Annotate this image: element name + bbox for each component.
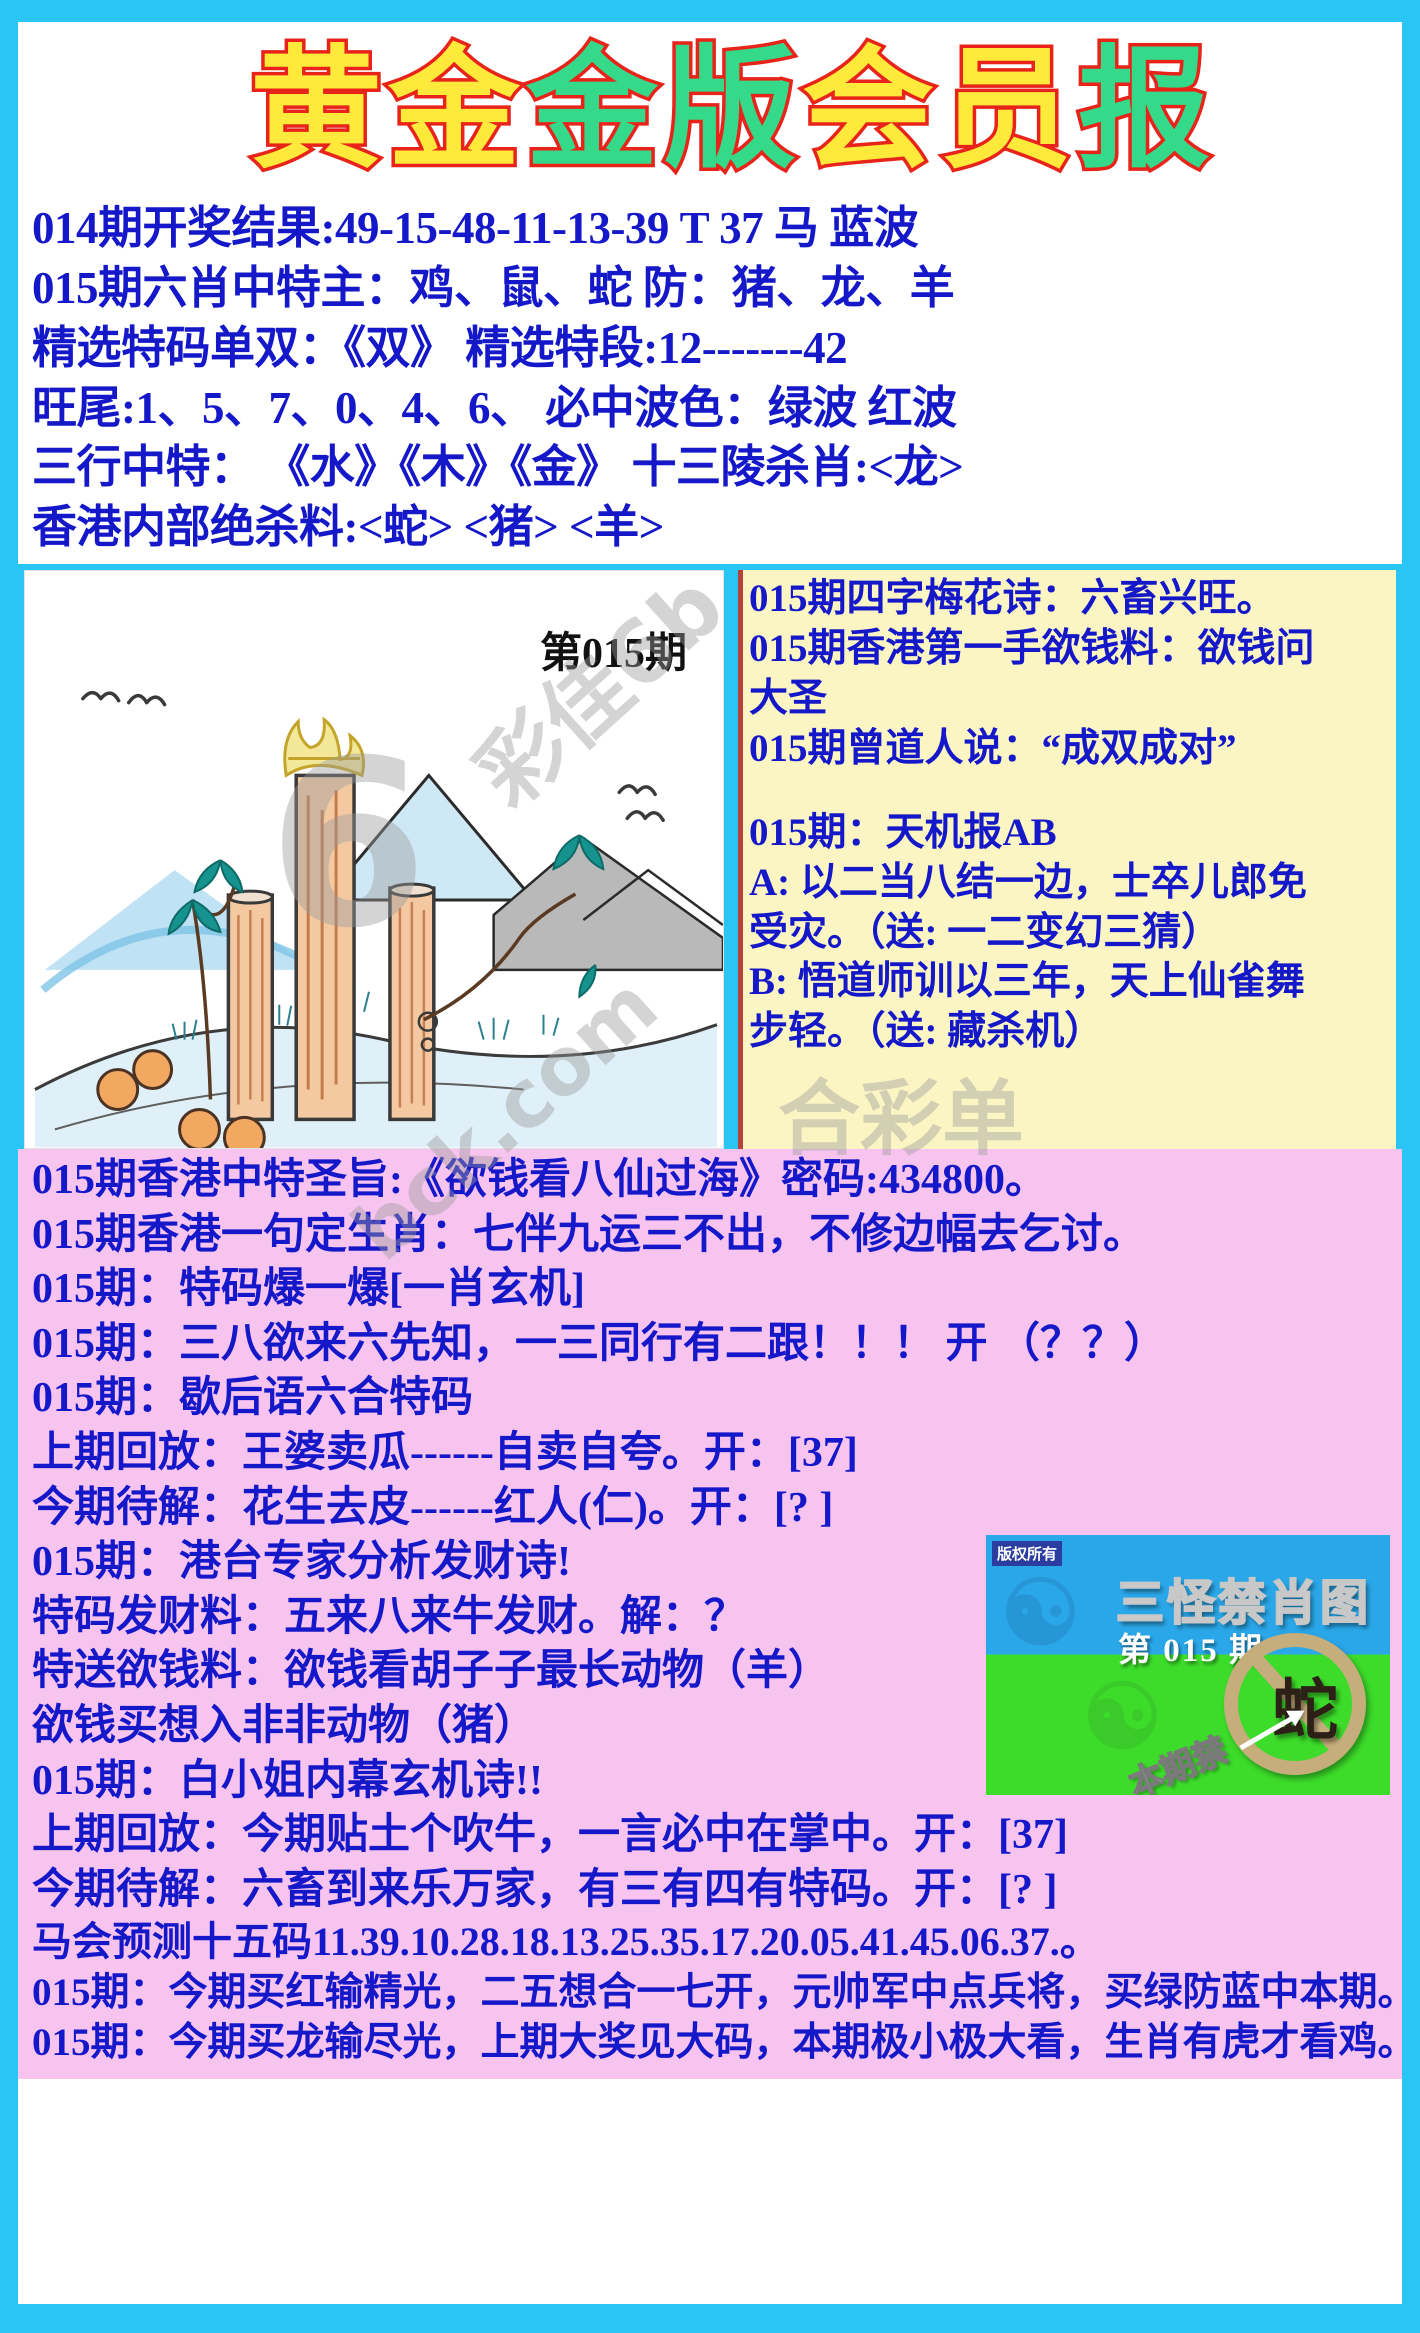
- pink-line-13: 上期回放：今期贴土个吹牛，一言必中在掌中。开：[37]: [32, 1808, 1392, 1863]
- headline-line-2: 015期六肖中特主：鸡、鼠、蛇 防：猪、龙、羊: [32, 259, 1392, 319]
- illustration-issue-label: 第015期: [540, 619, 687, 680]
- headline-line-6: 香港内部绝杀料:<蛇> <猪> <羊>: [32, 498, 1392, 558]
- masthead-char-2: 金: [388, 33, 526, 187]
- yellow-spacer: [749, 774, 1392, 808]
- masthead-char-7: 报: [1078, 33, 1216, 187]
- yellow-line-5: 015期：天机报AB: [749, 808, 1392, 858]
- yellow-line-1: 015期四字梅花诗：六畜兴旺。: [749, 574, 1392, 624]
- pink-line-14: 今期待解：六畜到来乐万家，有三有四有特码。开：[? ]: [32, 1863, 1392, 1918]
- pink-line-12: 015期：白小姐内幕玄机诗!!: [32, 1754, 1392, 1809]
- pink-line-11: 欲钱买想入非非动物（猪）: [32, 1699, 1392, 1754]
- masthead-char-3: 金: [526, 33, 664, 187]
- pink-line-8: 015期：港台专家分析发财诗!: [32, 1535, 1392, 1590]
- pink-line-4: 015期：三八欲来六先知，一三同行有二跟！！！ 开 （？？）: [32, 1317, 1392, 1372]
- pink-line-6: 上期回放：王婆卖瓜------自卖自夸。开：[37]: [32, 1426, 1392, 1481]
- pink-line-17: 015期：今期买龙输尽光，上期大奖见大码，本期极小极大看，生肖有虎才看鸡。: [32, 2018, 1392, 2069]
- middle-row: 第015期 015期四字梅花诗：六畜兴旺。 015期香港第一手欲钱料：欲钱问 大…: [18, 564, 1402, 1149]
- pink-line-16: 015期：今期买红输精光，二五想合一七开，元帅军中点兵将，买绿防蓝中本期。: [32, 1968, 1392, 2019]
- pink-line-10: 特送欲钱料：欲钱看胡子子最长动物（羊）: [32, 1644, 1392, 1699]
- illustration-panel: 第015期: [24, 570, 724, 1149]
- headline-line-3: 精选特码单双：《双》 精选特段:12-------42: [32, 319, 1392, 379]
- newspaper-page: 黄金金版会员报 014期开奖结果:49-15-48-11-13-39 T 37 …: [18, 22, 1402, 2304]
- yellow-line-8: B: 悟道师训以三年，天上仙雀舞: [749, 957, 1392, 1007]
- headline-line-4: 旺尾:1、5、7、0、4、6、 必中波色：绿波 红波: [32, 379, 1392, 439]
- masthead-char-5: 会: [802, 33, 940, 187]
- headline-block: 014期开奖结果:49-15-48-11-13-39 T 37 马 蓝波 015…: [18, 197, 1402, 564]
- yellow-info-panel: 015期四字梅花诗：六畜兴旺。 015期香港第一手欲钱料：欲钱问 大圣 015期…: [738, 570, 1396, 1149]
- pink-line-15: 马会预测十五码11.39.10.28.18.13.25.35.17.20.05.…: [32, 1917, 1392, 1967]
- pink-line-1: 015期香港中特圣旨:《欲钱看八仙过海》密码:434800。: [32, 1153, 1392, 1208]
- masthead-char-4: 版: [664, 33, 802, 187]
- yellow-line-4: 015期曾道人说：“成双成对”: [749, 724, 1392, 774]
- pink-line-5: 015期：歇后语六合特码: [32, 1371, 1392, 1426]
- pink-line-9: 特码发财料：五来八来牛发财。解：？: [32, 1590, 1392, 1645]
- pink-line-3: 015期：特码爆一爆[一肖玄机]: [32, 1262, 1392, 1317]
- masthead-title: 黄金金版会员报: [204, 44, 1216, 176]
- yellow-line-9: 步轻。（送: 藏杀机）: [749, 1007, 1392, 1057]
- masthead-char-6: 员: [940, 33, 1078, 187]
- pink-line-7: 今期待解：花生去皮------红人(仁)。开：[? ]: [32, 1481, 1392, 1536]
- yellow-line-3: 大圣: [749, 674, 1392, 724]
- headline-line-5: 三行中特： 《水》《木》《金》 十三陵杀肖:<龙>: [32, 438, 1392, 498]
- masthead: 黄金金版会员报: [18, 22, 1402, 197]
- yellow-line-7: 受灾。（送: 一二变幻三猜）: [749, 908, 1392, 958]
- pink-info-panel: 015期香港中特圣旨:《欲钱看八仙过海》密码:434800。 015期香港一句定…: [18, 1149, 1402, 2079]
- yellow-line-2: 015期香港第一手欲钱料：欲钱问: [749, 624, 1392, 674]
- masthead-char-1: 黄: [250, 33, 388, 187]
- headline-line-1: 014期开奖结果:49-15-48-11-13-39 T 37 马 蓝波: [32, 199, 1392, 259]
- yellow-line-6: A: 以二当八结一边，士卒儿郎免: [749, 858, 1392, 908]
- pink-line-2: 015期香港一句定生肖：七伴九运三不出，不修边幅去乞讨。: [32, 1208, 1392, 1263]
